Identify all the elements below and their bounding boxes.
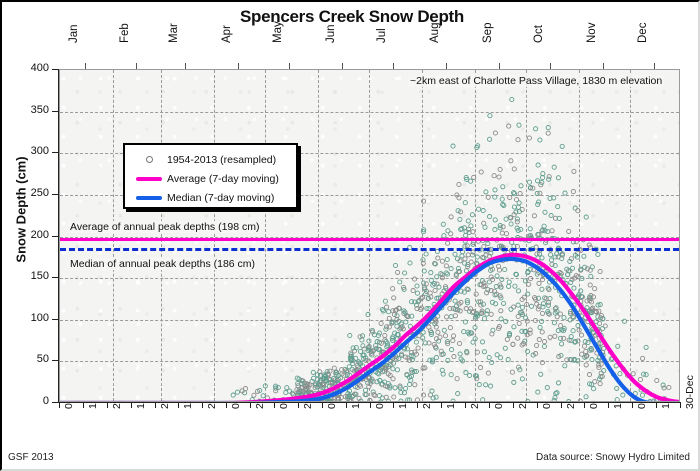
- x-axis-tick: [83, 402, 84, 408]
- legend-item-2[interactable]: Median (7-day moving): [131, 188, 290, 207]
- x-axis-tick: [561, 402, 562, 408]
- y-axis-tick-label: 150: [4, 270, 49, 282]
- plot-area: ~2km east of Charlotte Pass Village, 183…: [59, 69, 680, 402]
- x-axis-tick: [202, 402, 203, 408]
- month-label-oct: Oct: [533, 25, 545, 43]
- legend-label: Median (7-day moving): [167, 192, 274, 204]
- month-label-nov: Nov: [586, 23, 598, 43]
- legend-key: [131, 177, 167, 181]
- x-axis-tick: [584, 402, 585, 408]
- x-axis-tick: [632, 402, 633, 408]
- x-axis-tick: [178, 402, 179, 408]
- x-axis-tick: [155, 402, 156, 408]
- x-axis-tick: [513, 402, 514, 408]
- x-axis-tick: [489, 402, 490, 408]
- x-axis-tick: [346, 402, 347, 408]
- x-axis-tick: [298, 402, 299, 408]
- legend-circle-marker-icon: [146, 156, 153, 163]
- legend-label: Average (7-day moving): [167, 173, 279, 185]
- legend-item-1[interactable]: Average (7-day moving): [131, 169, 290, 188]
- month-label-may: May: [272, 21, 284, 43]
- y-axis-tick: [52, 319, 59, 320]
- month-label-sep: Sep: [482, 23, 494, 43]
- elevation-annotation: ~2km east of Charlotte Pass Village, 183…: [408, 75, 664, 87]
- footer-credit: GSF 2013: [8, 452, 54, 463]
- y-axis-tick-label: 0: [4, 395, 49, 407]
- y-axis-tick: [52, 111, 59, 112]
- moving-average-curves: [60, 70, 680, 402]
- chart-legend[interactable]: 1954-2013 (resampled)Average (7-day movi…: [123, 143, 298, 209]
- y-axis-tick: [52, 69, 59, 70]
- y-axis-tick-label: 50: [4, 353, 49, 365]
- median-peak-annotation: Median of annual peak depths (186 cm): [68, 258, 257, 270]
- y-axis-tick: [52, 194, 59, 195]
- x-axis-tick-label: 30-Dec: [684, 375, 696, 409]
- y-axis-tick-label: 400: [4, 62, 49, 74]
- month-label-aug: Aug: [429, 23, 441, 43]
- y-axis-tick: [52, 236, 59, 237]
- legend-key: [131, 156, 167, 163]
- x-axis-tick: [322, 402, 323, 408]
- y-axis-tick-label: 300: [4, 145, 49, 157]
- y-axis-tick-label: 100: [4, 312, 49, 324]
- month-label-apr: Apr: [221, 25, 233, 43]
- y-axis-tick: [52, 360, 59, 361]
- legend-average-line-icon: [136, 177, 162, 181]
- legend-label: 1954-2013 (resampled): [167, 154, 276, 166]
- y-axis-tick: [52, 277, 59, 278]
- month-label-jul: Jul: [376, 28, 388, 43]
- month-label-jan: Jan: [68, 24, 80, 43]
- month-label-feb: Feb: [119, 23, 131, 43]
- month-label-mar: Mar: [168, 23, 180, 43]
- x-axis-tick: [393, 402, 394, 408]
- x-axis-tick: [608, 402, 609, 408]
- x-axis-tick: [226, 402, 227, 408]
- average-peak-annotation: Average of annual peak depths (198 cm): [68, 221, 262, 233]
- x-axis-tick: [537, 402, 538, 408]
- x-axis-tick: [441, 402, 442, 408]
- legend-key: [131, 196, 167, 200]
- y-axis-tick-label: 250: [4, 187, 49, 199]
- month-label-jun: Jun: [325, 24, 337, 43]
- legend-item-0[interactable]: 1954-2013 (resampled): [131, 150, 290, 169]
- y-axis-tick: [52, 402, 59, 403]
- x-axis-tick: [107, 402, 108, 408]
- x-axis-tick: [250, 402, 251, 408]
- x-axis-tick: [465, 402, 466, 408]
- x-axis-tick: [59, 402, 60, 408]
- x-axis-tick: [417, 402, 418, 408]
- x-axis-tick: [370, 402, 371, 408]
- month-label-dec: Dec: [637, 23, 649, 43]
- curve-median: [60, 259, 680, 402]
- x-axis-tick: [131, 402, 132, 408]
- y-axis-tick: [52, 152, 59, 153]
- legend-median-line-icon: [136, 196, 162, 200]
- x-axis-tick: [680, 402, 681, 408]
- y-axis-tick-label: 350: [4, 104, 49, 116]
- y-axis-title: Snow Depth (cm): [14, 95, 29, 325]
- scatter-point: [304, 401, 308, 402]
- x-axis-tick: [274, 402, 275, 408]
- x-axis-tick: [656, 402, 657, 408]
- footer-data-source: Data source: Snowy Hydro Limited: [536, 452, 690, 463]
- chart-figure: Spencers Creek Snow Depth JanFebMarAprMa…: [0, 0, 700, 471]
- y-axis-tick-label: 200: [4, 229, 49, 241]
